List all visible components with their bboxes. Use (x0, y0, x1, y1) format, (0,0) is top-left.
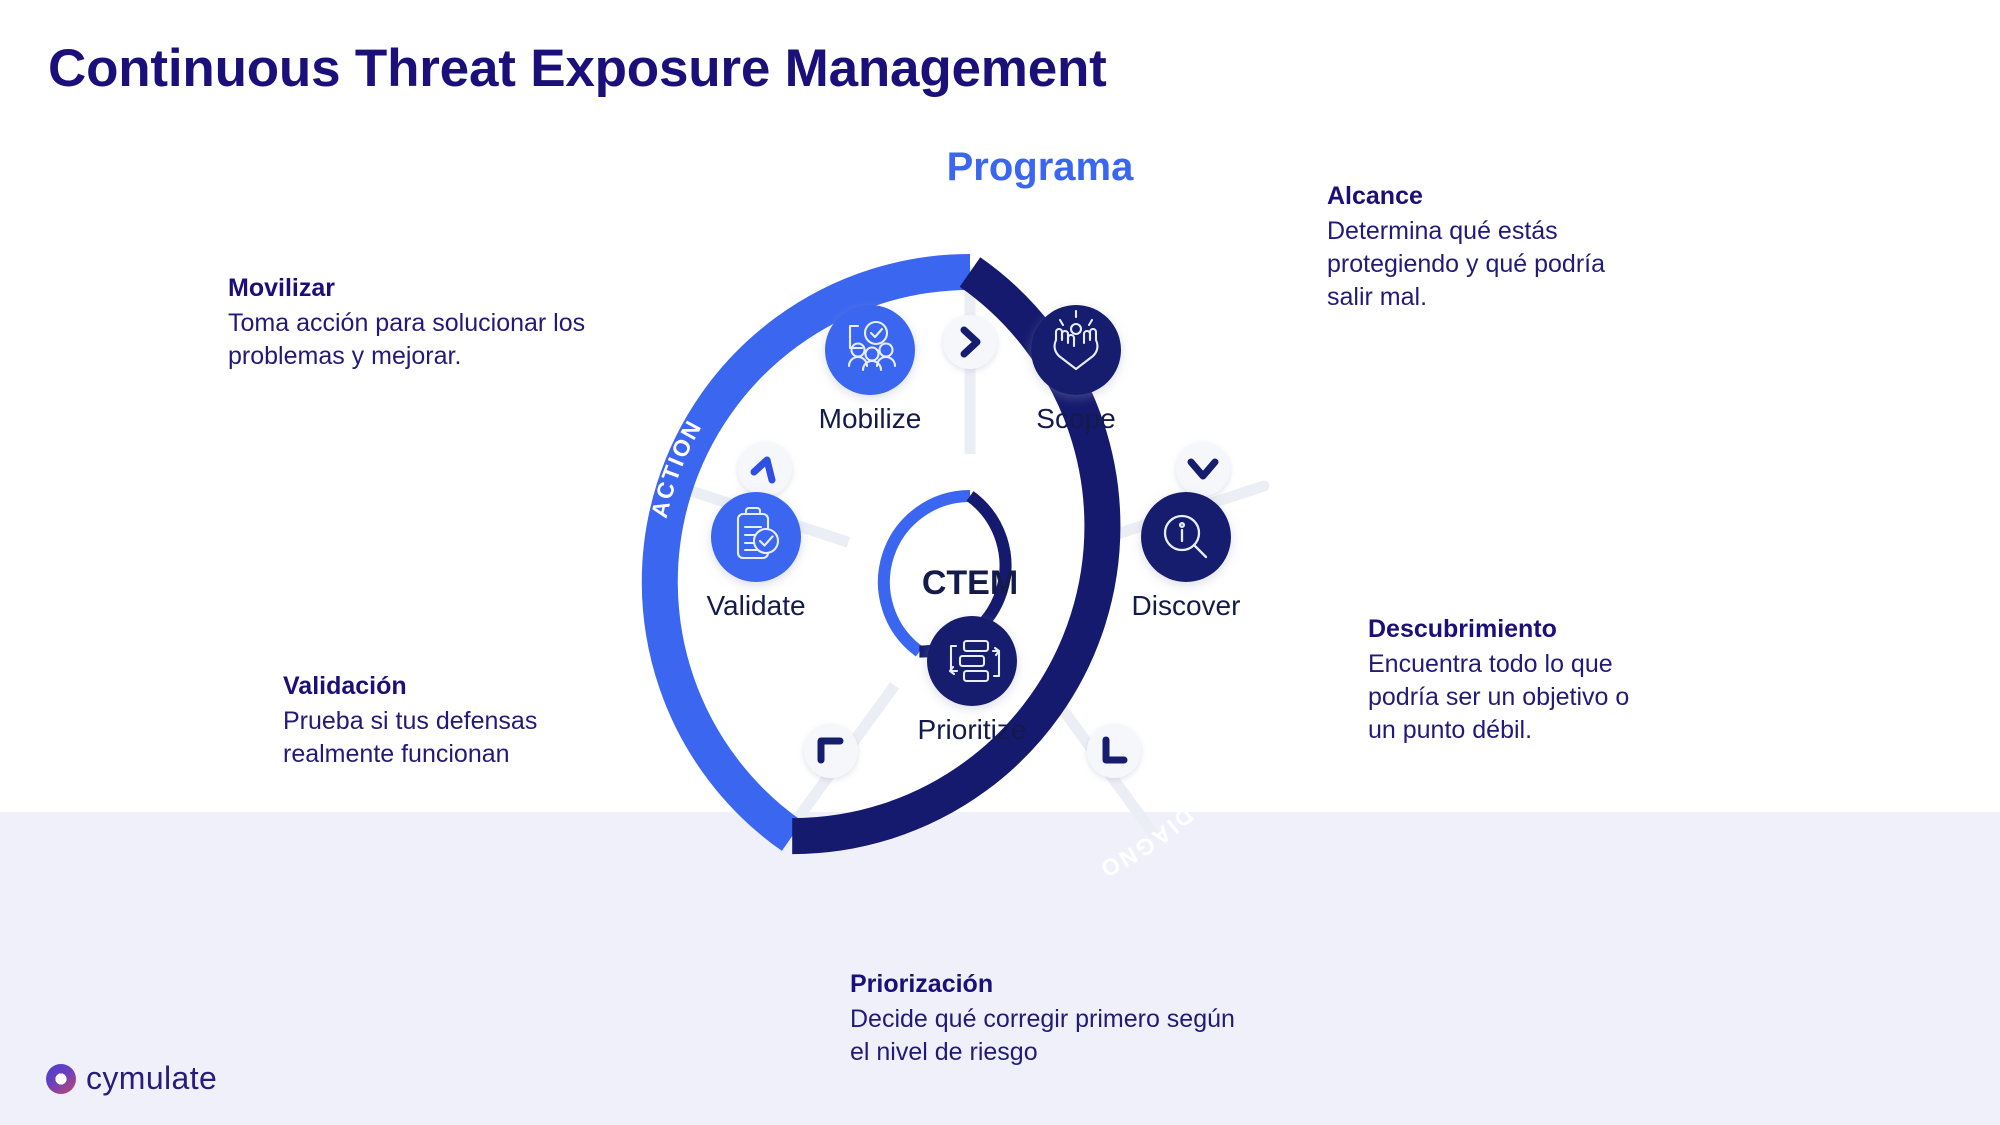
callout-movilizar-body: Toma acción para solucionar los problema… (228, 307, 688, 373)
callout-movilizar-title: Movilizar (228, 272, 688, 304)
cymulate-logo-text: cymulate (86, 1060, 217, 1097)
connector-prioritize-to-validate[interactable] (804, 724, 858, 778)
node-prioritize-disc (927, 616, 1017, 706)
callout-descubrimiento-body: Encuentra todo lo que podría ser un obje… (1368, 648, 1768, 747)
node-scope-label: Scope (1036, 403, 1115, 434)
cymulate-logo: cymulate (46, 1060, 217, 1097)
callout-priorizacion-title: Priorización (850, 968, 1370, 1000)
node-discover[interactable]: Discover (1132, 492, 1241, 621)
callout-alcance-body: Determina qué estás protegiendo y qué po… (1327, 215, 1727, 314)
node-validate-label: Validate (706, 590, 805, 621)
connector-discover-to-prioritize[interactable] (1087, 724, 1141, 778)
cymulate-logo-icon (46, 1064, 76, 1094)
slide-canvas: Continuous Threat Exposure Management Pr… (0, 0, 2000, 1125)
connector-scope-to-discover[interactable] (1176, 442, 1230, 496)
page-subtitle: Programa (840, 145, 1240, 190)
callout-descubrimiento-title: Descubrimiento (1368, 613, 1768, 645)
callout-alcance-title: Alcance (1327, 180, 1727, 212)
node-scope[interactable]: Scope (1031, 305, 1121, 434)
node-discover-disc (1141, 492, 1231, 582)
node-scope-disc (1031, 305, 1121, 395)
node-prioritize-label: Prioritize (918, 714, 1027, 745)
node-validate[interactable]: Validate (706, 492, 805, 621)
callout-priorizacion: Priorización Decide qué corregir primero… (850, 968, 1370, 1069)
callout-priorizacion-body: Decide qué corregir primero según el niv… (850, 1003, 1370, 1069)
node-mobilize-disc (825, 305, 915, 395)
callout-alcance: Alcance Determina qué estás protegiendo … (1327, 180, 1727, 314)
node-discover-label: Discover (1132, 590, 1241, 621)
page-title: Continuous Threat Exposure Management (48, 38, 1107, 99)
connector-mobilize-to-scope[interactable] (943, 315, 997, 369)
ctem-wheel-diagram: ACTION DIAGNOSE CTEM (620, 232, 1320, 932)
node-mobilize-label: Mobilize (819, 403, 922, 434)
ctem-center-label: CTEM (922, 564, 1018, 602)
connector-validate-to-mobilize[interactable] (738, 442, 792, 496)
callout-descubrimiento: Descubrimiento Encuentra todo lo que pod… (1368, 613, 1768, 747)
callout-movilizar: Movilizar Toma acción para solucionar lo… (228, 272, 688, 373)
node-mobilize[interactable]: Mobilize (819, 305, 922, 434)
